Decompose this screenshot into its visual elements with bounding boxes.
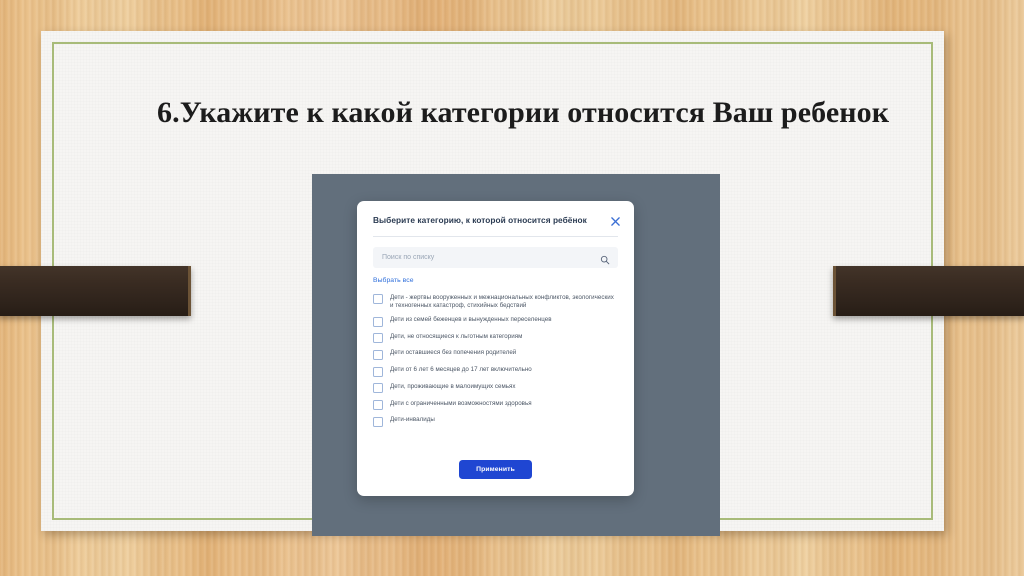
decorative-bar-right [833,266,1024,316]
checkbox[interactable] [373,383,383,393]
close-icon[interactable] [608,214,622,228]
list-item[interactable]: Дети-инвалиды [373,416,618,427]
list-item[interactable]: Дети, проживающие в малоимущих семьях [373,383,618,394]
list-item[interactable]: Дети оставшиеся без попечения родителей [373,349,618,360]
dialog-header: Выберите категорию, к которой относится … [357,201,634,227]
category-dialog: Выберите категорию, к которой относится … [357,201,634,496]
list-item-label: Дети - жертвы вооруженных и межнациональ… [390,294,618,310]
apply-row: Применить [357,460,634,479]
checkbox[interactable] [373,294,383,304]
select-all-link[interactable]: Выбрать все [373,277,414,284]
page-title: 6.Укажите к какой категории относится Ва… [157,91,957,135]
decorative-bar-left [0,266,191,316]
list-item-label: Дети оставшиеся без попечения родителей [390,349,516,357]
list-item-label: Дети от 6 лет 6 месяцев до 17 лет включи… [390,366,532,374]
list-item[interactable]: Дети - жертвы вооруженных и межнациональ… [373,294,618,310]
checkbox[interactable] [373,417,383,427]
checkbox[interactable] [373,400,383,410]
apply-button[interactable]: Применить [459,460,532,479]
list-item-label: Дети, не относящиеся к льготным категори… [390,333,522,341]
header-divider [373,236,618,237]
list-item[interactable]: Дети из семей беженцев и вынужденных пер… [373,316,618,327]
search-input[interactable] [373,246,599,268]
search-field[interactable] [373,247,618,268]
list-item[interactable]: Дети от 6 лет 6 месяцев до 17 лет включи… [373,366,618,377]
screenshot-backdrop: Выберите категорию, к которой относится … [312,174,720,536]
checkbox[interactable] [373,317,383,327]
category-list: Дети - жертвы вооруженных и межнациональ… [373,294,618,427]
list-item-label: Дети, проживающие в малоимущих семьях [390,383,516,391]
checkbox[interactable] [373,333,383,343]
checkbox[interactable] [373,350,383,360]
list-item[interactable]: Дети, не относящиеся к льготным категори… [373,333,618,344]
list-item-label: Дети из семей беженцев и вынужденных пер… [390,316,552,324]
search-icon[interactable] [600,252,610,270]
list-item[interactable]: Дети с ограниченными возможностями здоро… [373,400,618,411]
dialog-title: Выберите категорию, к которой относится … [373,215,591,227]
checkbox[interactable] [373,367,383,377]
list-item-label: Дети-инвалиды [390,416,435,424]
list-item-label: Дети с ограниченными возможностями здоро… [390,400,532,408]
